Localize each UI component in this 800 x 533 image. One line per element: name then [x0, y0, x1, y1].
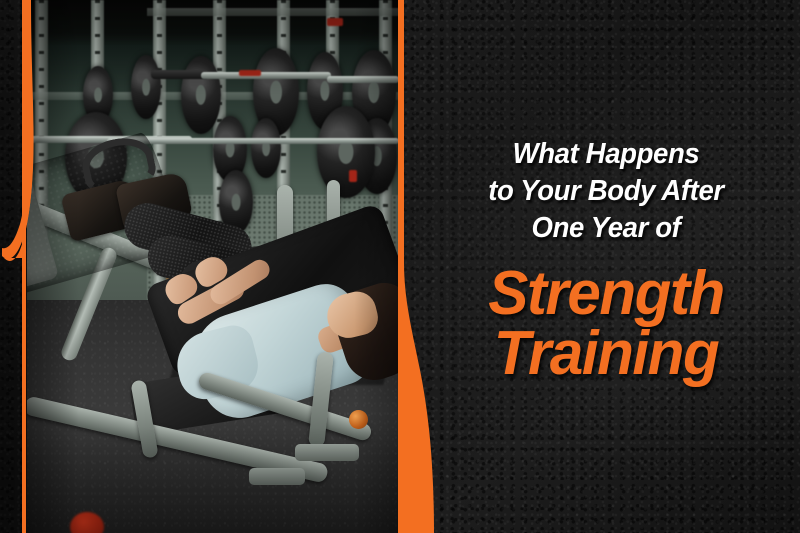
headline-emphasis-line-1: Strength [418, 264, 794, 324]
headline-orange-text: Strength Training [418, 264, 794, 384]
photo-orange-edge-line [22, 0, 26, 533]
weight-plate [317, 106, 375, 198]
leg-press-floor-foot [295, 444, 359, 461]
weight-plate [251, 118, 281, 178]
weight-plate [131, 55, 161, 119]
weight-plate [181, 56, 221, 134]
rack-red-marker [327, 18, 343, 26]
barbell-red-marker [239, 70, 261, 76]
rack-red-marker [349, 170, 357, 182]
photo-orange-edge-line [398, 0, 402, 533]
rack-crossbeam [147, 8, 399, 16]
headline-line-3: One Year of [422, 210, 791, 247]
headline-line-1: What Happens [422, 136, 791, 173]
strength-training-banner: What Happens to Your Body After One Year… [0, 0, 800, 533]
headline-line-2: to Your Body After [422, 173, 791, 210]
gym-photo-scene [27, 0, 399, 533]
barbell [201, 72, 331, 79]
headline-emphasis-line-2: Training [418, 324, 794, 384]
leg-press-adjust-knob [349, 410, 368, 429]
gym-photo [27, 0, 399, 533]
leg-press-floor-foot [249, 468, 305, 485]
headline-white-text: What Happens to Your Body After One Year… [422, 136, 791, 247]
headline-block: What Happens to Your Body After One Year… [412, 136, 800, 384]
